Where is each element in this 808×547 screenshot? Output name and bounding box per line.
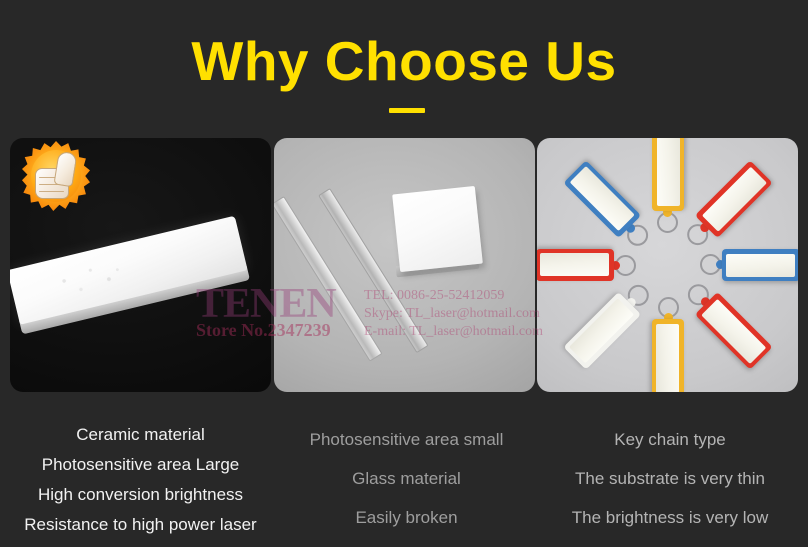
glass-slide-graphic	[292, 162, 502, 362]
keychain-label-area	[726, 254, 795, 277]
page-title: Why Choose Us	[0, 28, 808, 94]
product-card-ceramic[interactable]	[10, 138, 271, 392]
keychain-tag-body	[563, 160, 641, 238]
thumb-up-shape	[53, 151, 77, 188]
caption-line: Glass material	[281, 459, 532, 498]
keychain-tag-body	[722, 249, 799, 281]
keychain-tag	[563, 276, 656, 369]
caption-column-keychain: Key chain type The substrate is very thi…	[532, 398, 808, 537]
keychain-label-area	[569, 298, 634, 363]
keychain-tag	[679, 276, 772, 369]
caption-line: Ceramic material	[0, 420, 281, 450]
ceramic-plate-graphic	[10, 216, 251, 339]
caption-column-ceramic: Ceramic material Photosensitive area Lar…	[0, 398, 281, 540]
product-card-keychain[interactable]	[537, 138, 798, 392]
keychain-tag-body	[694, 160, 772, 238]
caption-line: Photosensitive area Large	[0, 450, 281, 480]
caption-line: Easily broken	[281, 498, 532, 537]
ceramic-texture	[47, 257, 131, 304]
caption-line: Resistance to high power laser	[0, 510, 281, 540]
keychain-tag	[679, 160, 772, 253]
caption-line: Key chain type	[532, 420, 808, 459]
keychain-tag	[652, 297, 684, 392]
caption-column-glass: Photosensitive area small Glass material…	[281, 398, 532, 537]
caption-line: High conversion brightness	[0, 480, 281, 510]
product-photo-glass	[274, 138, 535, 392]
keychain-tag-body	[652, 319, 684, 392]
thumbs-up-badge	[22, 141, 90, 211]
glass-slide-arm	[274, 196, 383, 362]
caption-row: Ceramic material Photosensitive area Lar…	[0, 398, 808, 547]
caption-line: The substrate is very thin	[532, 459, 808, 498]
header: Why Choose Us	[0, 0, 808, 132]
caption-line: The brightness is very low	[532, 498, 808, 537]
keychain-label-area	[569, 167, 634, 232]
product-photo-keychain	[537, 138, 798, 392]
keychain-tag	[652, 138, 684, 233]
title-underline-divider	[389, 108, 425, 113]
promo-banner: Why Choose Us	[0, 0, 808, 547]
keychain-tag	[700, 249, 799, 281]
keychain-label-area	[656, 324, 679, 393]
keychain-tag	[537, 249, 636, 281]
product-card-glass[interactable]	[274, 138, 535, 392]
keychain-cluster	[537, 138, 798, 392]
keychain-label-area	[701, 167, 766, 232]
keychain-tag-body	[563, 292, 641, 370]
keychain-label-area	[540, 254, 609, 277]
keychain-tag-body	[694, 292, 772, 370]
keychain-tag-body	[537, 249, 614, 281]
keychain-label-area	[656, 138, 679, 207]
caption-line: Photosensitive area small	[281, 420, 532, 459]
glass-square-face	[392, 186, 483, 272]
product-image-row: TENEN Store No.2347239 TEL: 0086-25-5241…	[0, 138, 808, 392]
keychain-label-area	[701, 298, 766, 363]
keychain-tag	[563, 160, 656, 253]
thumbs-up-icon	[35, 152, 79, 200]
keychain-tag-body	[652, 138, 684, 211]
